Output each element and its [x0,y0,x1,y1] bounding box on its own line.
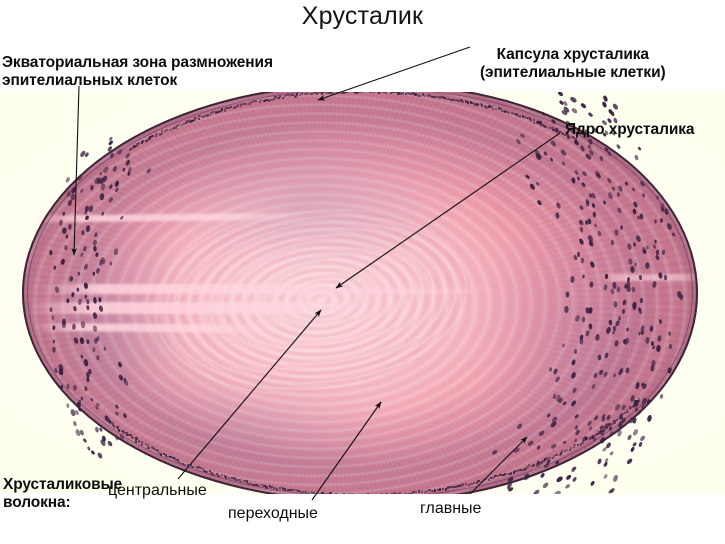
page-title: Хрусталик [0,2,725,31]
label-fiber-main: главные [420,500,481,519]
label-fiber-central: центральные [108,482,207,501]
label-lens-nucleus: Ядро хрусталика [565,121,694,139]
lens-body [22,92,698,494]
label-lens-fibers-line2: волокна: [3,494,122,512]
label-equatorial-zone-line1: Экваториальная зона размножения [2,54,273,72]
label-lens-capsule: Капсула хрусталика (эпителиальные клетки… [480,46,666,83]
label-equatorial-zone: Экваториальная зона размножения эпителиа… [2,54,273,91]
label-lens-capsule-line2: (эпителиальные клетки) [480,64,666,82]
label-lens-capsule-line1: Капсула хрусталика [480,46,666,64]
label-lens-fibers-line1: Хрусталиковые [3,476,122,494]
label-fiber-transition: переходные [228,505,318,524]
label-lens-fibers: Хрусталиковые волокна: [3,476,122,513]
micrograph-image [0,92,725,494]
label-equatorial-zone-line2: эпителиальных клеток [2,72,273,90]
lens-histology-figure: Хрусталик [0,0,725,544]
